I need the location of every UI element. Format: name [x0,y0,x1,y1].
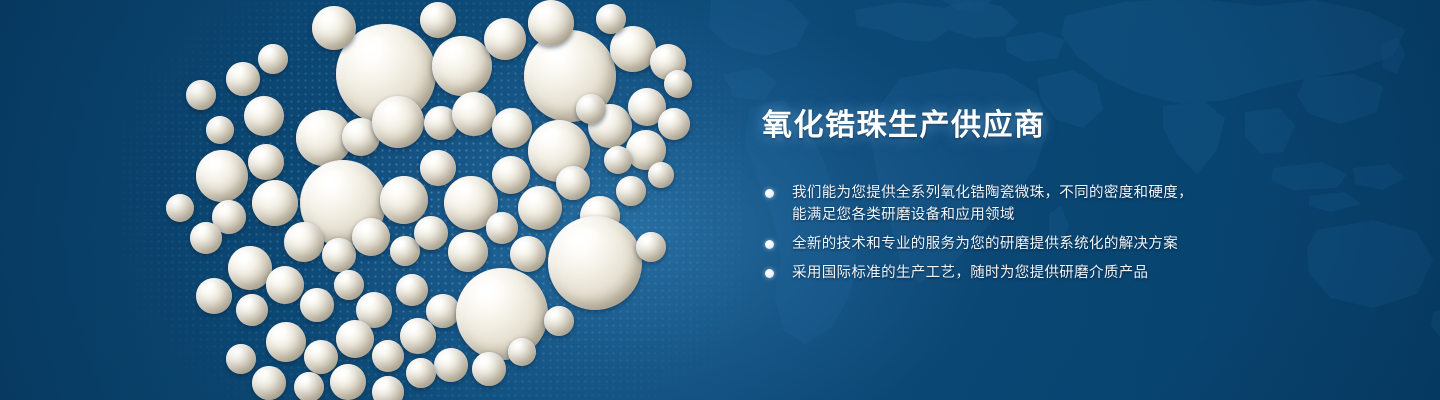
list-item-line: 全新的技术和专业的服务为您的研磨提供系统化的解决方案 [792,233,1362,255]
banner-copy: 氧化锆珠生产供应商 我们能为您提供全系列氧化锆陶瓷微珠，不同的密度和硬度， 能满… [762,108,1362,284]
bullet-dot-icon [765,240,774,249]
list-item-line: 我们能为您提供全系列氧化锆陶瓷微珠，不同的密度和硬度， [792,182,1362,204]
list-item-line: 采用国际标准的生产工艺，随时为您提供研磨介质产品 [792,262,1362,284]
list-item-line: 能满足您各类研磨设备和应用领域 [792,204,1362,226]
list-item: 采用国际标准的生产工艺，随时为您提供研磨介质产品 [762,262,1362,284]
list-item: 我们能为您提供全系列氧化锆陶瓷微珠，不同的密度和硬度， 能满足您各类研磨设备和应… [762,182,1362,226]
feature-list: 我们能为您提供全系列氧化锆陶瓷微珠，不同的密度和硬度， 能满足您各类研磨设备和应… [762,182,1362,284]
bullet-dot-icon [765,189,774,198]
hero-banner: 氧化锆珠生产供应商 我们能为您提供全系列氧化锆陶瓷微珠，不同的密度和硬度， 能满… [0,0,1440,400]
list-item: 全新的技术和专业的服务为您的研磨提供系统化的解决方案 [762,233,1362,255]
page-title: 氧化锆珠生产供应商 [762,108,1362,144]
bullet-dot-icon [765,269,774,278]
